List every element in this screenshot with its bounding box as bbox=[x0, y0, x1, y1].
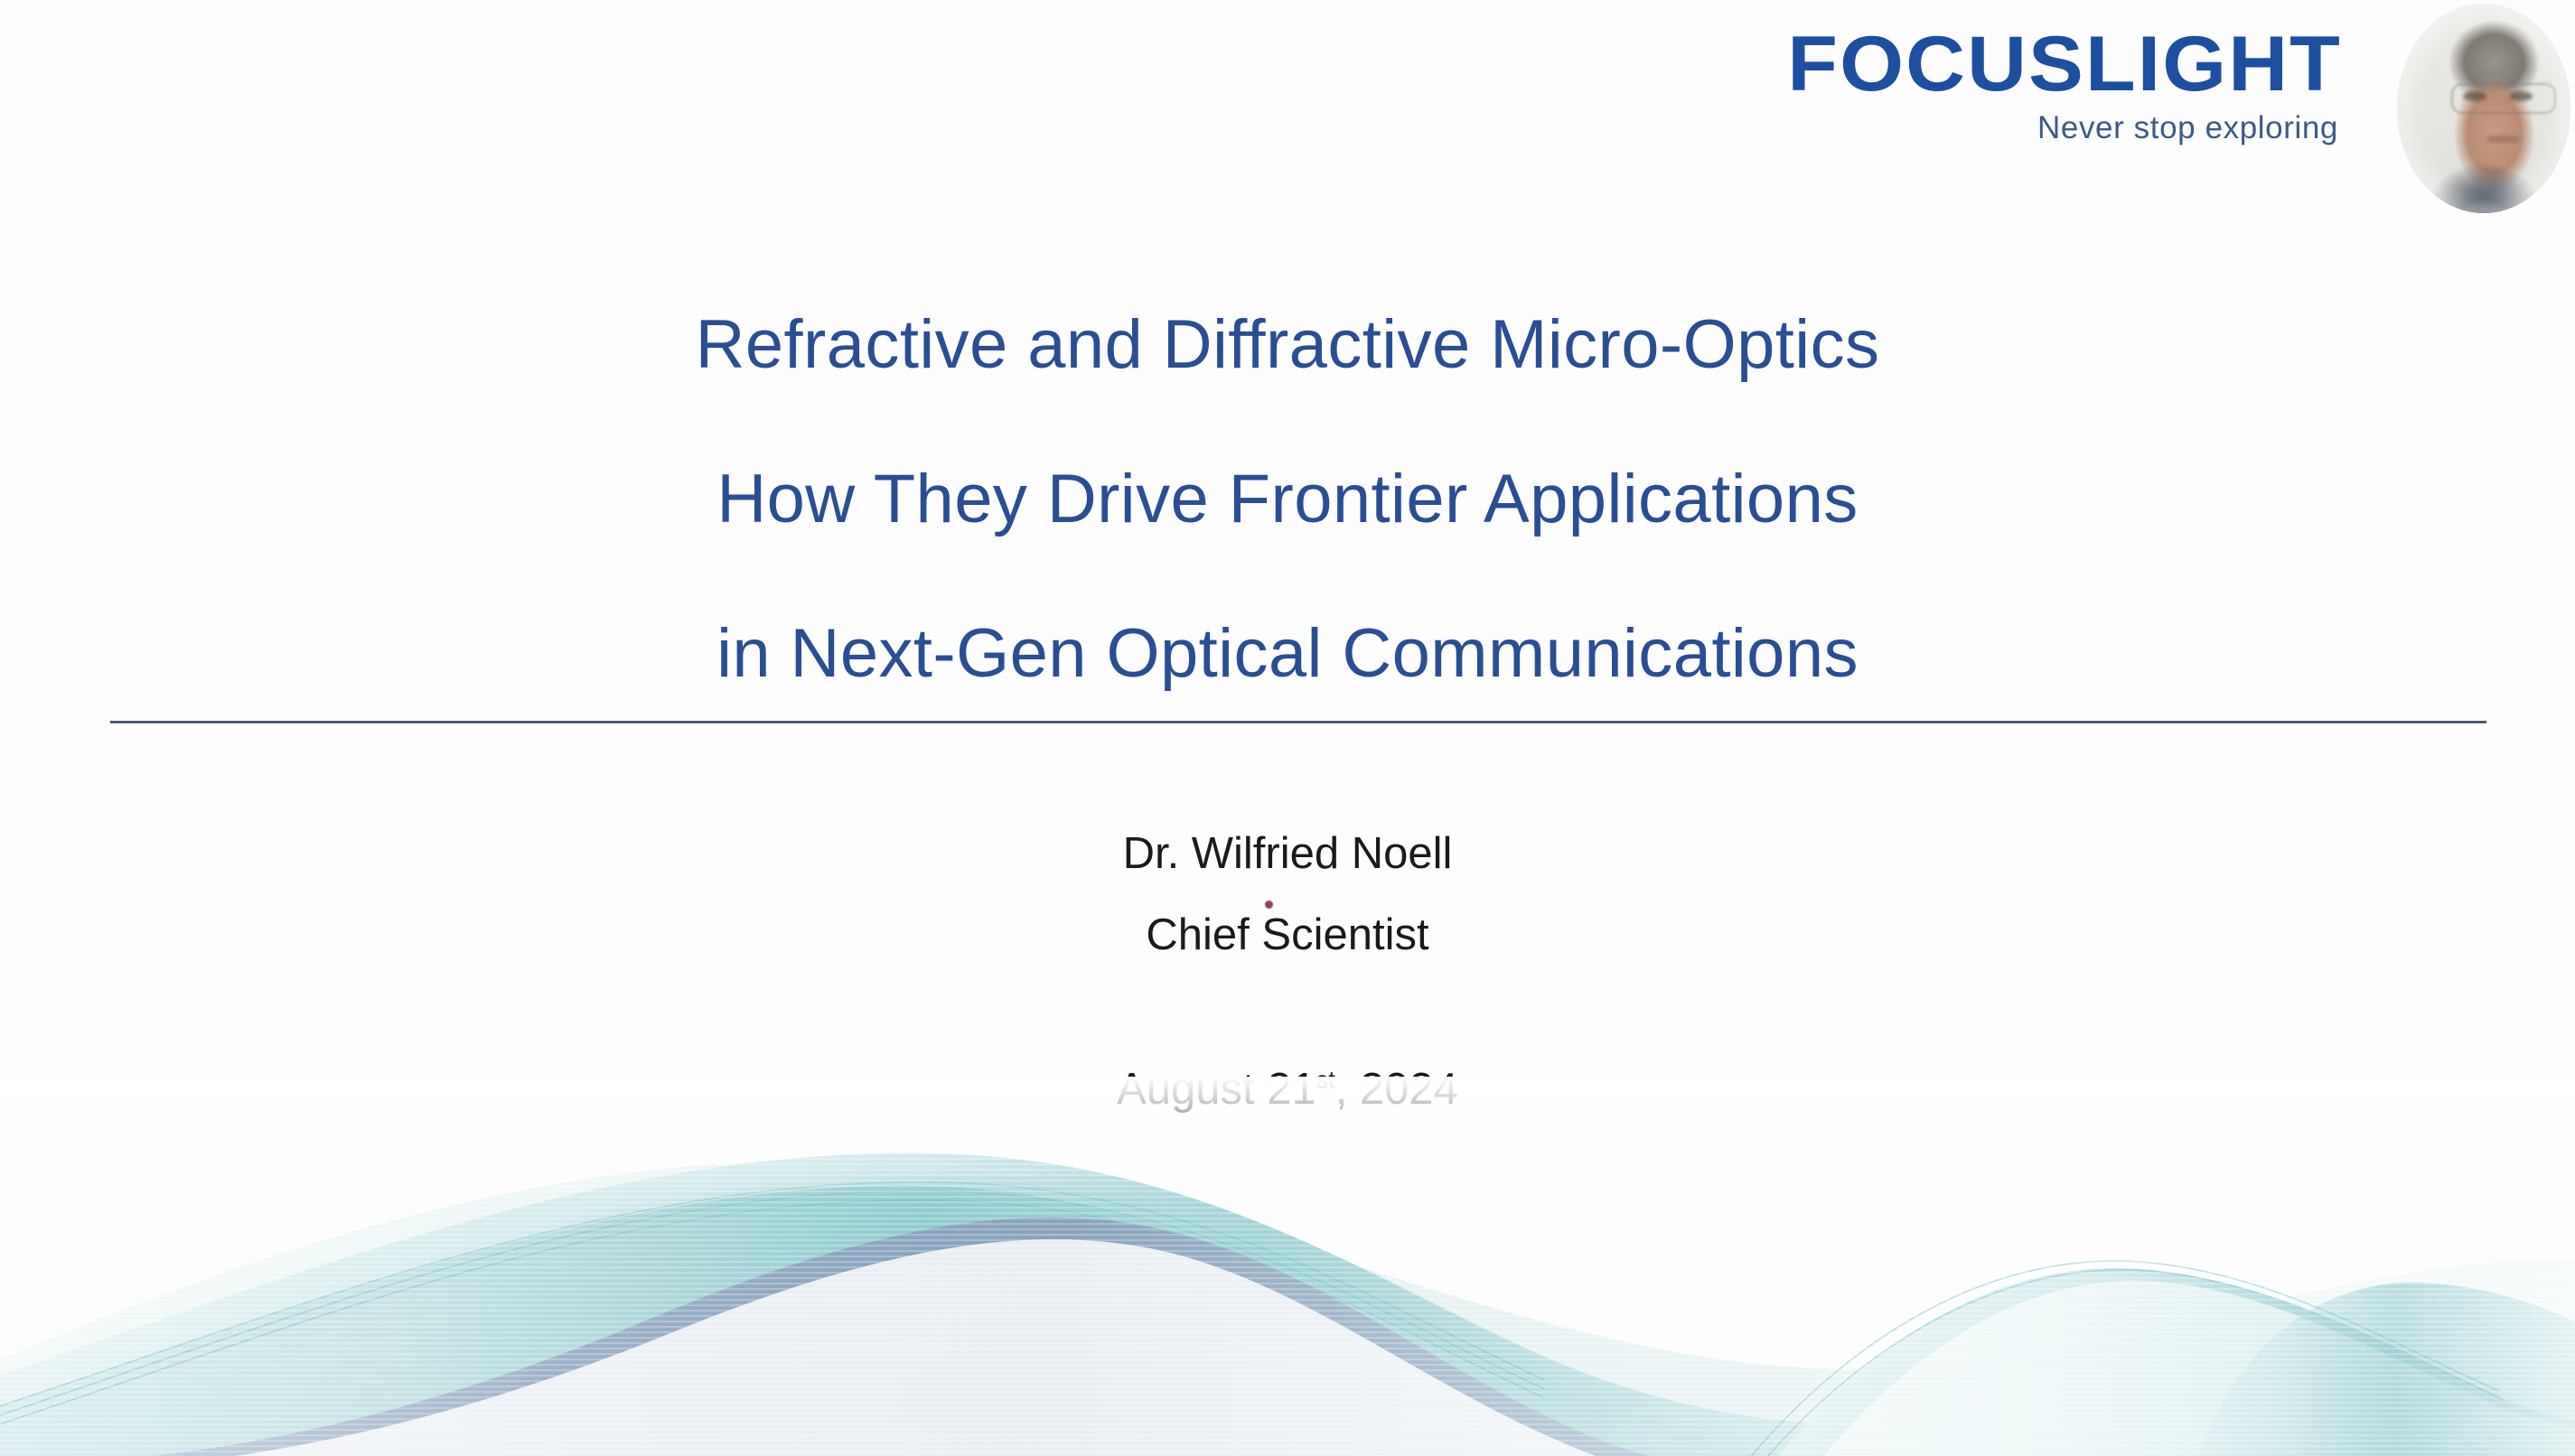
wave-ribbon-teal-2 bbox=[0, 1153, 1961, 1456]
focuslight-logo: FOCUSLIGHT Never stop exploring bbox=[1800, 25, 2342, 144]
title-divider bbox=[110, 721, 2486, 723]
presenter-name: Dr. Wilfried Noell bbox=[0, 813, 2575, 894]
wave-ribbon-teal-3 bbox=[1771, 1268, 2575, 1456]
date-ordinal-suffix: st bbox=[1316, 1067, 1335, 1094]
logo-tagline-text: Never stop exploring bbox=[1800, 112, 2338, 144]
date-year: , 2024 bbox=[1335, 1065, 1458, 1114]
presentation-date: August 21st, 2024 bbox=[0, 1064, 2575, 1115]
presenter-info: Dr. Wilfried Noell Chief Scientist bbox=[0, 813, 2575, 975]
wave-top-fade bbox=[0, 1077, 2575, 1375]
wave-ribbon-teal-3-highlight bbox=[1816, 1281, 2575, 1456]
page-title: Refractive and Diffractive Micro-Optics … bbox=[0, 267, 2575, 731]
wave-ribbon-pale-1 bbox=[0, 1161, 2575, 1456]
decorative-wave-graphic bbox=[0, 1077, 2575, 1456]
title-line-3: in Next-Gen Optical Communications bbox=[0, 576, 2575, 731]
avatar[interactable] bbox=[2397, 4, 2570, 213]
logo-wordmark-text: FOCUSLIGHT bbox=[1767, 25, 2342, 103]
wave-svg bbox=[0, 1077, 2575, 1456]
wave-line-accents bbox=[0, 1182, 2501, 1456]
wave-hatch-texture bbox=[0, 1131, 2575, 1456]
laser-pointer-dot bbox=[1265, 901, 1273, 909]
avatar-vignette bbox=[2397, 4, 2570, 213]
date-main: August 21 bbox=[1117, 1065, 1316, 1114]
presenter-role: Chief Scientist bbox=[0, 894, 2575, 975]
wave-ribbon-slate bbox=[36, 1218, 1780, 1456]
wave-ribbon-slate-highlight bbox=[36, 1239, 1780, 1456]
title-line-2: How They Drive Frontier Applications bbox=[0, 422, 2575, 576]
wave-ribbon-teal-4 bbox=[2196, 1283, 2575, 1456]
title-line-1: Refractive and Diffractive Micro-Optics bbox=[0, 267, 2575, 422]
wave-ribbon-teal-1 bbox=[0, 1177, 1961, 1456]
presentation-slide: FOCUSLIGHT Never stop exploring Refracti… bbox=[0, 0, 2575, 1456]
